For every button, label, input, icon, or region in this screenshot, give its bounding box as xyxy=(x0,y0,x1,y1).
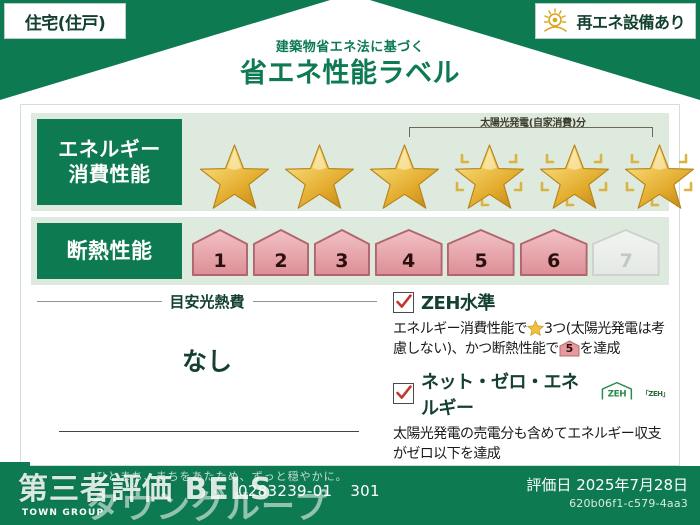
zeh-logo-sublabel: 「ZEH」 xyxy=(642,389,669,399)
renewable-energy-chip: 再エネ設備あり xyxy=(535,3,696,39)
insulation-grade-scale: 1 2 3 xyxy=(191,225,661,277)
utility-cost-underline xyxy=(59,431,359,432)
insulation-grade-number-4: 4 xyxy=(374,250,444,272)
inline-house-grade-number: 5 xyxy=(559,340,580,357)
zeh-standard-heading: ZEH水準 xyxy=(393,289,669,315)
insulation-grade-1: 1 xyxy=(191,227,249,277)
insulation-grade-number-7: 7 xyxy=(591,250,661,272)
zeh-block: ZEH水準 エネルギー消費性能で3つ(太陽光発電は考慮しない)、かつ断熱性能で5… xyxy=(393,289,669,472)
star-1 xyxy=(193,137,276,209)
inline-star-icon xyxy=(527,320,544,336)
inline-house-grade-icon: 5 xyxy=(559,340,580,357)
insulation-grade-number-5: 5 xyxy=(446,250,516,272)
house-type-chip: 住宅(住戸) xyxy=(4,3,126,39)
page-title: 省エネ性能ラベル xyxy=(0,57,700,91)
checkbox-checked-icon-2 xyxy=(393,383,414,404)
star-4 xyxy=(448,137,531,209)
insulation-grade-4: 4 xyxy=(374,227,444,277)
title-block: 建築物省エネ法に基づく 省エネ性能ラベル xyxy=(0,40,700,90)
insulation-grade-number-6: 6 xyxy=(519,250,589,272)
utility-cost-heading-text: 目安光熱費 xyxy=(170,291,245,312)
energy-label-line2: 消費性能 xyxy=(69,162,151,187)
insulation-grade-2: 2 xyxy=(252,227,310,277)
rule-right xyxy=(253,301,378,302)
energy-performance-label: エネルギー 消費性能 xyxy=(37,119,182,205)
insulation-performance-row: 断熱性能 1 xyxy=(31,217,669,285)
energy-label-root: 住宅(住戸) 再エネ設備あり 建築物省エネ法に基づく xyxy=(0,0,700,525)
star-5 xyxy=(533,137,616,209)
zeh-standard-title: ZEH水準 xyxy=(421,289,495,315)
evaluation-date-value: 2025年7月28日 xyxy=(576,476,688,494)
label-card: エネルギー 消費性能 太陽光発電(自家消費)分 xyxy=(20,104,680,466)
zeh-standard-item: ZEH水準 エネルギー消費性能で3つ(太陽光発電は考慮しない)、かつ断熱性能で5… xyxy=(393,289,669,360)
solar-bracket xyxy=(409,127,653,137)
utility-cost-heading: 目安光熱費 xyxy=(37,291,377,312)
energy-label-line1: エネルギー xyxy=(58,137,161,162)
insulation-grade-number-2: 2 xyxy=(252,250,310,272)
evaluation-date-label: 評価日 xyxy=(526,476,571,494)
insulation-grade-6: 6 xyxy=(519,227,589,277)
net-zero-energy-heading: ネット・ゼロ・エネルギー ZEH 「ZEH」 xyxy=(393,368,669,420)
checkbox-checked-icon xyxy=(393,292,414,313)
insulation-grade-number-3: 3 xyxy=(313,250,371,272)
insulation-performance-label: 断熱性能 xyxy=(37,223,182,279)
renewable-energy-label: 再エネ設備あり xyxy=(576,9,685,33)
net-zero-energy-description: 太陽光発電の売電分も含めてエネルギー収支がゼロ以下を達成 xyxy=(393,424,669,465)
footer-unit: 301 xyxy=(350,482,380,500)
zeh-desc-part1: エネルギー消費性能で xyxy=(393,321,527,337)
bels-watermark: 第三者評価 BELS xyxy=(18,464,273,508)
insulation-grade-number-1: 1 xyxy=(191,250,249,272)
evaluation-date-block: 評価日 2025年7月28日 620b06f1-c579-4aa3 xyxy=(526,474,688,510)
rule-left xyxy=(37,301,162,302)
house-type-label: 住宅(住戸) xyxy=(25,9,106,34)
insulation-grade-3: 3 xyxy=(313,227,371,277)
star-3 xyxy=(363,137,446,209)
evaluation-hash: 620b06f1-c579-4aa3 xyxy=(526,497,688,510)
insulation-grade-7: 7 xyxy=(591,227,661,277)
stars-area: 太陽光発電(自家消費)分 xyxy=(191,113,665,211)
utility-cost-value: なし xyxy=(37,342,377,378)
evaluation-date: 評価日 2025年7月28日 xyxy=(526,474,688,495)
net-zero-energy-item: ネット・ゼロ・エネルギー ZEH 「ZEH」 太陽光発電の売電分も含めてエネルギ… xyxy=(393,368,669,465)
title-subtitle: 建築物省エネ法に基づく xyxy=(0,40,700,56)
solar-sun-icon xyxy=(542,8,570,34)
star-6 xyxy=(618,137,700,209)
star-2 xyxy=(278,137,361,209)
utility-cost-block: 目安光熱費 なし xyxy=(37,291,377,378)
zeh-desc-star-count: 3つ xyxy=(544,321,566,337)
lower-section: 目安光熱費 なし ZEH水準 エネルギー消費性能で3つ(太陽光 xyxy=(21,289,679,465)
energy-performance-row: エネルギー 消費性能 太陽光発電(自家消費)分 xyxy=(31,113,669,211)
star-rating xyxy=(191,137,665,209)
zeh-standard-description: エネルギー消費性能で3つ(太陽光発電は考慮しない)、かつ断熱性能で5を達成 xyxy=(393,319,669,360)
insulation-grade-5: 5 xyxy=(446,227,516,277)
zeh-desc-part3: を達成 xyxy=(580,341,620,357)
net-zero-energy-title: ネット・ゼロ・エネルギー xyxy=(421,368,590,420)
svg-text:ZEH: ZEH xyxy=(608,389,627,399)
zeh-house-logo-icon: ZEH xyxy=(600,381,634,406)
